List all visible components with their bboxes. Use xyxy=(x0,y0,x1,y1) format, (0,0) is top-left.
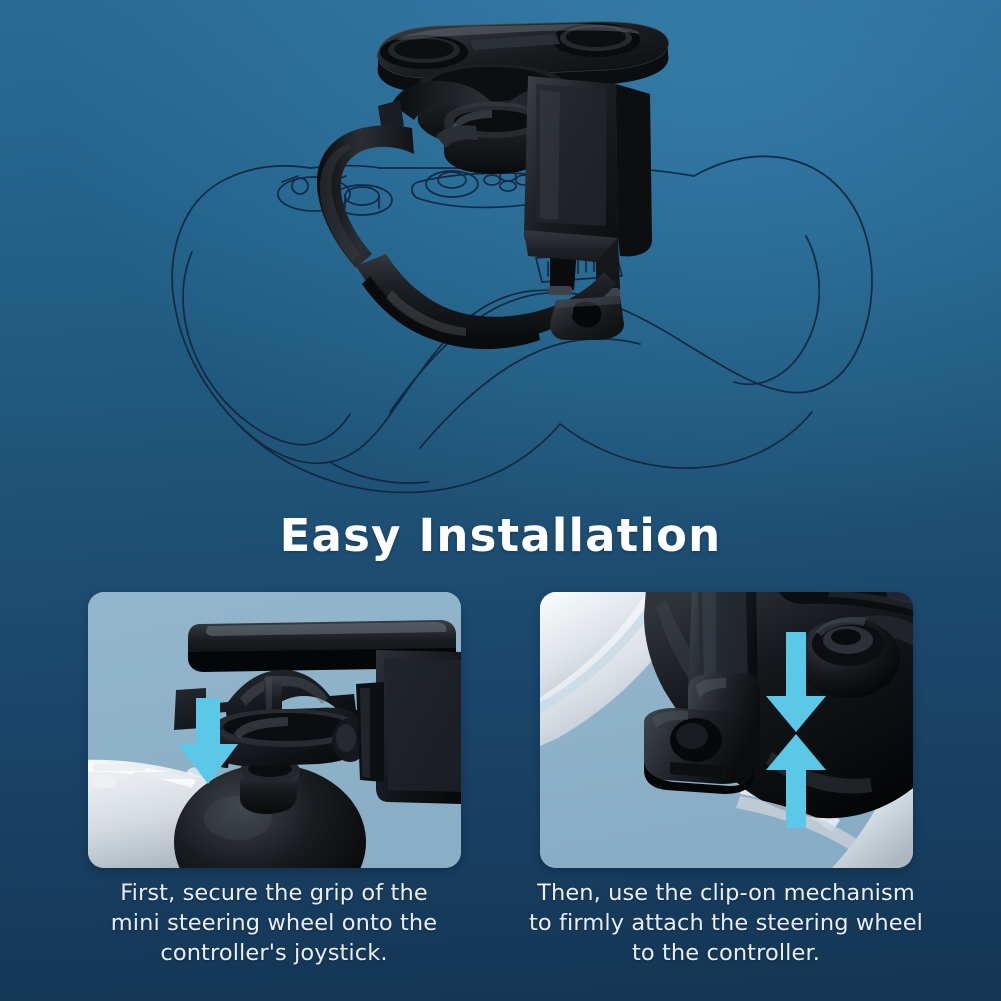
caption-line: First, secure the grip of the xyxy=(64,878,484,908)
caption-line: to firmly attach the steering wheel xyxy=(516,908,936,938)
clip-foot xyxy=(644,708,754,794)
step-2-image xyxy=(540,592,913,868)
page-title: Easy Installation xyxy=(0,512,1001,561)
product-infographic: Easy Installation xyxy=(0,0,1001,1001)
step-1-image xyxy=(88,592,461,868)
clip-bracket xyxy=(524,76,652,297)
caption-line: to the controller. xyxy=(516,938,936,968)
caption-line: controller's joystick. xyxy=(64,938,484,968)
lower-hook xyxy=(550,296,624,340)
caption-line: Then, use the clip-on mechanism xyxy=(516,878,936,908)
step-2-caption: Then, use the clip-on mechanism to firml… xyxy=(516,878,936,968)
step-1-caption: First, secure the grip of the mini steer… xyxy=(64,878,484,968)
hero-product-image xyxy=(0,0,1001,505)
caption-line: mini steering wheel onto the xyxy=(64,908,484,938)
